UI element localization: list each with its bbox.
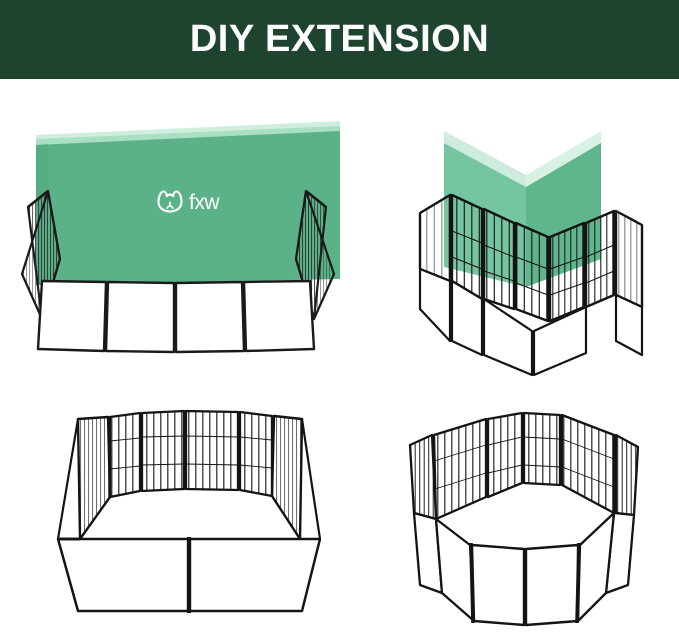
figure-wall-extension: fxw <box>8 109 348 379</box>
octagon-panel-back-right-far <box>616 435 638 515</box>
octagon-panel-back-left-far <box>410 435 436 519</box>
pen-panel-back-2 <box>142 411 184 491</box>
pen-panel-front-left <box>58 539 188 611</box>
fxw-logo-wordmark: fxw <box>189 191 220 214</box>
octagon-panel-front-right <box>578 513 614 621</box>
illustration-grid: fxw <box>0 79 679 638</box>
octagon-panel-front-center-right <box>526 545 578 625</box>
figure-octagon-pen <box>374 379 674 629</box>
pen-panel-corner-right <box>550 223 584 321</box>
pen-panel-back-4 <box>240 412 272 496</box>
octagon-panel-back-left <box>434 419 486 519</box>
figure-corner-extension <box>396 109 666 379</box>
pen-panel-right-lower <box>616 295 642 355</box>
page-title: DIY EXTENSION <box>190 20 489 60</box>
octagon-panel-back-center-right <box>524 413 560 485</box>
corner-extension-illustration <box>396 109 666 379</box>
pen-panel-corner-left <box>516 223 548 321</box>
pen-panel-left-side <box>78 417 110 539</box>
octagon-panel-front-left <box>436 519 474 621</box>
pen-panel-back-right-2 <box>586 211 614 307</box>
header-banner: DIY EXTENSION <box>0 0 679 79</box>
pen-panel-front-3 <box>176 282 244 352</box>
octagon-panel-back-right <box>562 415 614 513</box>
pen-panel-front-4 <box>244 281 314 351</box>
pen-panel-right-front-1 <box>616 211 642 307</box>
pen-panel-back-left-2 <box>484 209 514 309</box>
octagon-pen-illustration <box>374 379 674 629</box>
pen-panel-back-1 <box>110 413 140 497</box>
pen-panel-left-front-1 <box>420 195 450 281</box>
octagon-panel-back-center-left <box>488 413 522 497</box>
wall-extension-illustration: fxw <box>8 109 348 379</box>
pen-panel-right-side <box>272 416 302 539</box>
pen-panel-back-3 <box>186 411 238 490</box>
wall-panel-straight <box>36 121 340 285</box>
pen-panel-front-2 <box>106 282 174 352</box>
figure-square-pen <box>48 379 328 629</box>
octagon-panel-front-center-left <box>472 545 524 625</box>
square-pen-illustration <box>48 379 328 629</box>
pen-panel-front-right <box>190 539 320 611</box>
pen-panel-left-front-2 <box>420 269 450 341</box>
pen-panel-front-1 <box>38 281 106 351</box>
